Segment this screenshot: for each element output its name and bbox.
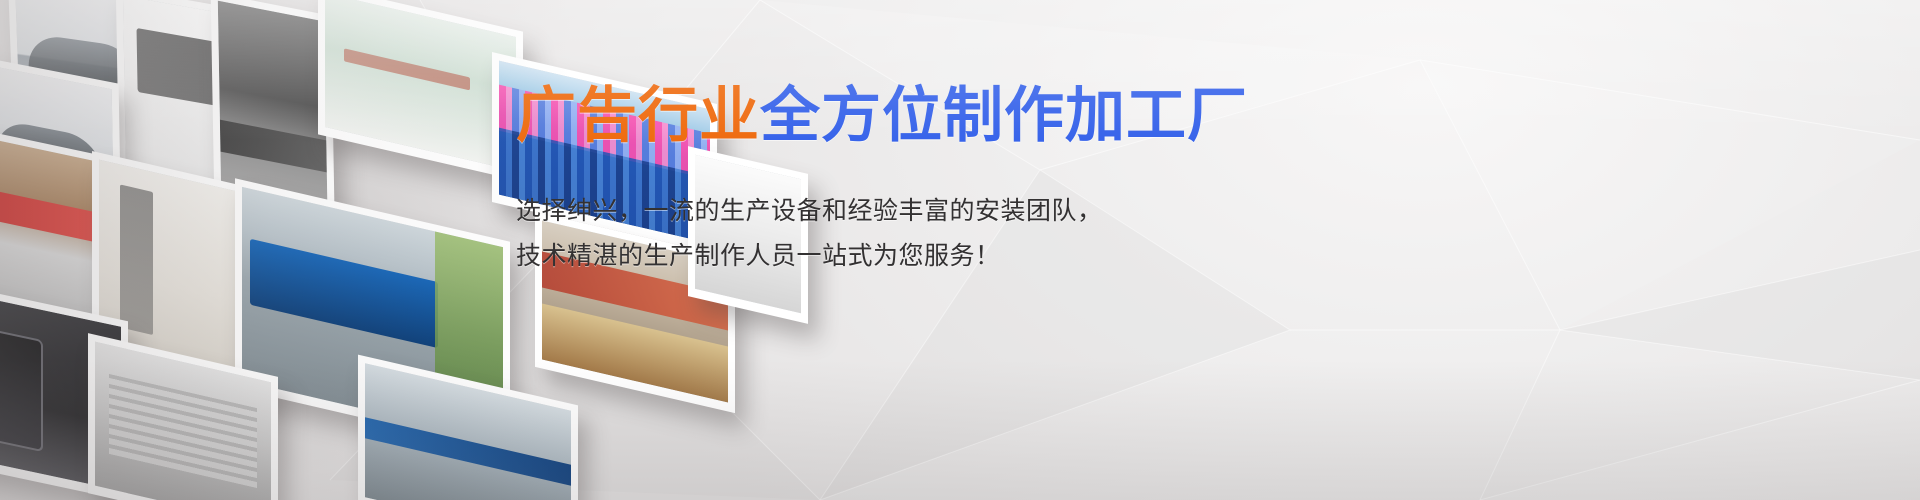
banner-headline: 广告行业全方位制作加工厂: [516, 86, 1276, 146]
subtitle-line-2: 技术精湛的生产制作人员一站式为您服务！: [516, 233, 1276, 278]
headline-segment-blue: 全方位制作加工厂: [760, 81, 1248, 151]
headline-segment-orange: 广告行业: [516, 81, 760, 151]
banner-subtitle: 选择绅兴，一流的生产设备和经验丰富的安装团队， 技术精湛的生产制作人员一站式为您…: [516, 188, 1276, 278]
subtitle-line-1: 选择绅兴，一流的生产设备和经验丰富的安装团队，: [516, 188, 1276, 233]
promo-banner: 广告行业全方位制作加工厂 选择绅兴，一流的生产设备和经验丰富的安装团队， 技术精…: [0, 0, 1920, 500]
banner-copy: 广告行业全方位制作加工厂 选择绅兴，一流的生产设备和经验丰富的安装团队， 技术精…: [516, 86, 1276, 278]
